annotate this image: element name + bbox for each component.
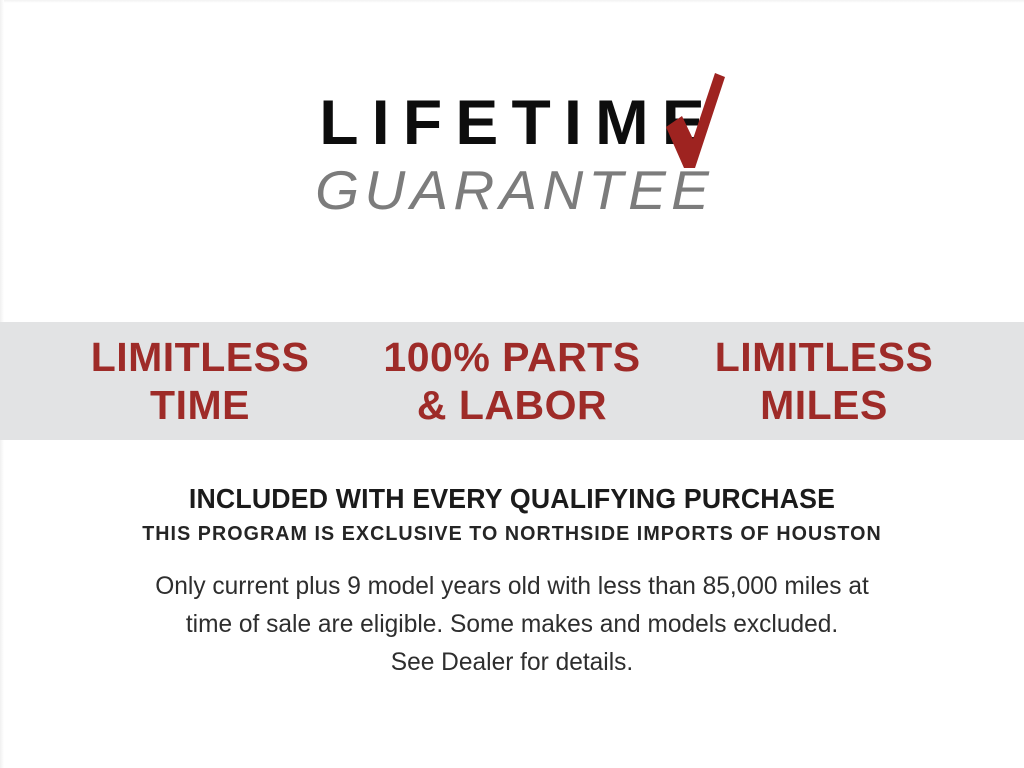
headline: INCLUDED WITH EVERY QUALIFYING PURCHASE xyxy=(15,483,1008,515)
feature-line-2: MILES xyxy=(668,381,980,429)
subheadline: THIS PROGRAM IS EXCLUSIVE TO NORTHSIDE I… xyxy=(20,522,1003,546)
logo-word-guarantee: GUARANTEE xyxy=(304,163,720,218)
logo-wordmark: LIFETIME GUARANTEE xyxy=(310,92,714,218)
feature-limitless-miles: LIMITLESS MILES xyxy=(668,333,980,430)
logo-word-lifetime: LIFETIME xyxy=(306,92,718,155)
promo-page: LIFETIME GUARANTEE LIMITLESS TIME 100% P… xyxy=(0,0,1024,768)
feature-parts-labor: 100% PARTS & LABOR xyxy=(356,333,668,430)
feature-line-1: LIMITLESS xyxy=(91,334,310,380)
lifetime-guarantee-logo: LIFETIME GUARANTEE xyxy=(0,92,1024,218)
feature-line-2: TIME xyxy=(44,381,356,429)
top-edge-artifact xyxy=(0,0,1024,3)
feature-band: LIMITLESS TIME 100% PARTS & LABOR LIMITL… xyxy=(0,322,1024,440)
fineprint-line-2: time of sale are eligible. Some makes an… xyxy=(69,605,955,643)
fineprint-line-1: Only current plus 9 model years old with… xyxy=(69,567,955,605)
fineprint-disclaimer: Only current plus 9 model years old with… xyxy=(69,567,955,681)
feature-line-2: & LABOR xyxy=(356,381,668,429)
feature-line-1: LIMITLESS xyxy=(715,334,934,380)
feature-limitless-time: LIMITLESS TIME xyxy=(44,333,356,430)
fineprint-line-3: See Dealer for details. xyxy=(69,643,955,681)
feature-line-1: 100% PARTS xyxy=(383,334,640,380)
